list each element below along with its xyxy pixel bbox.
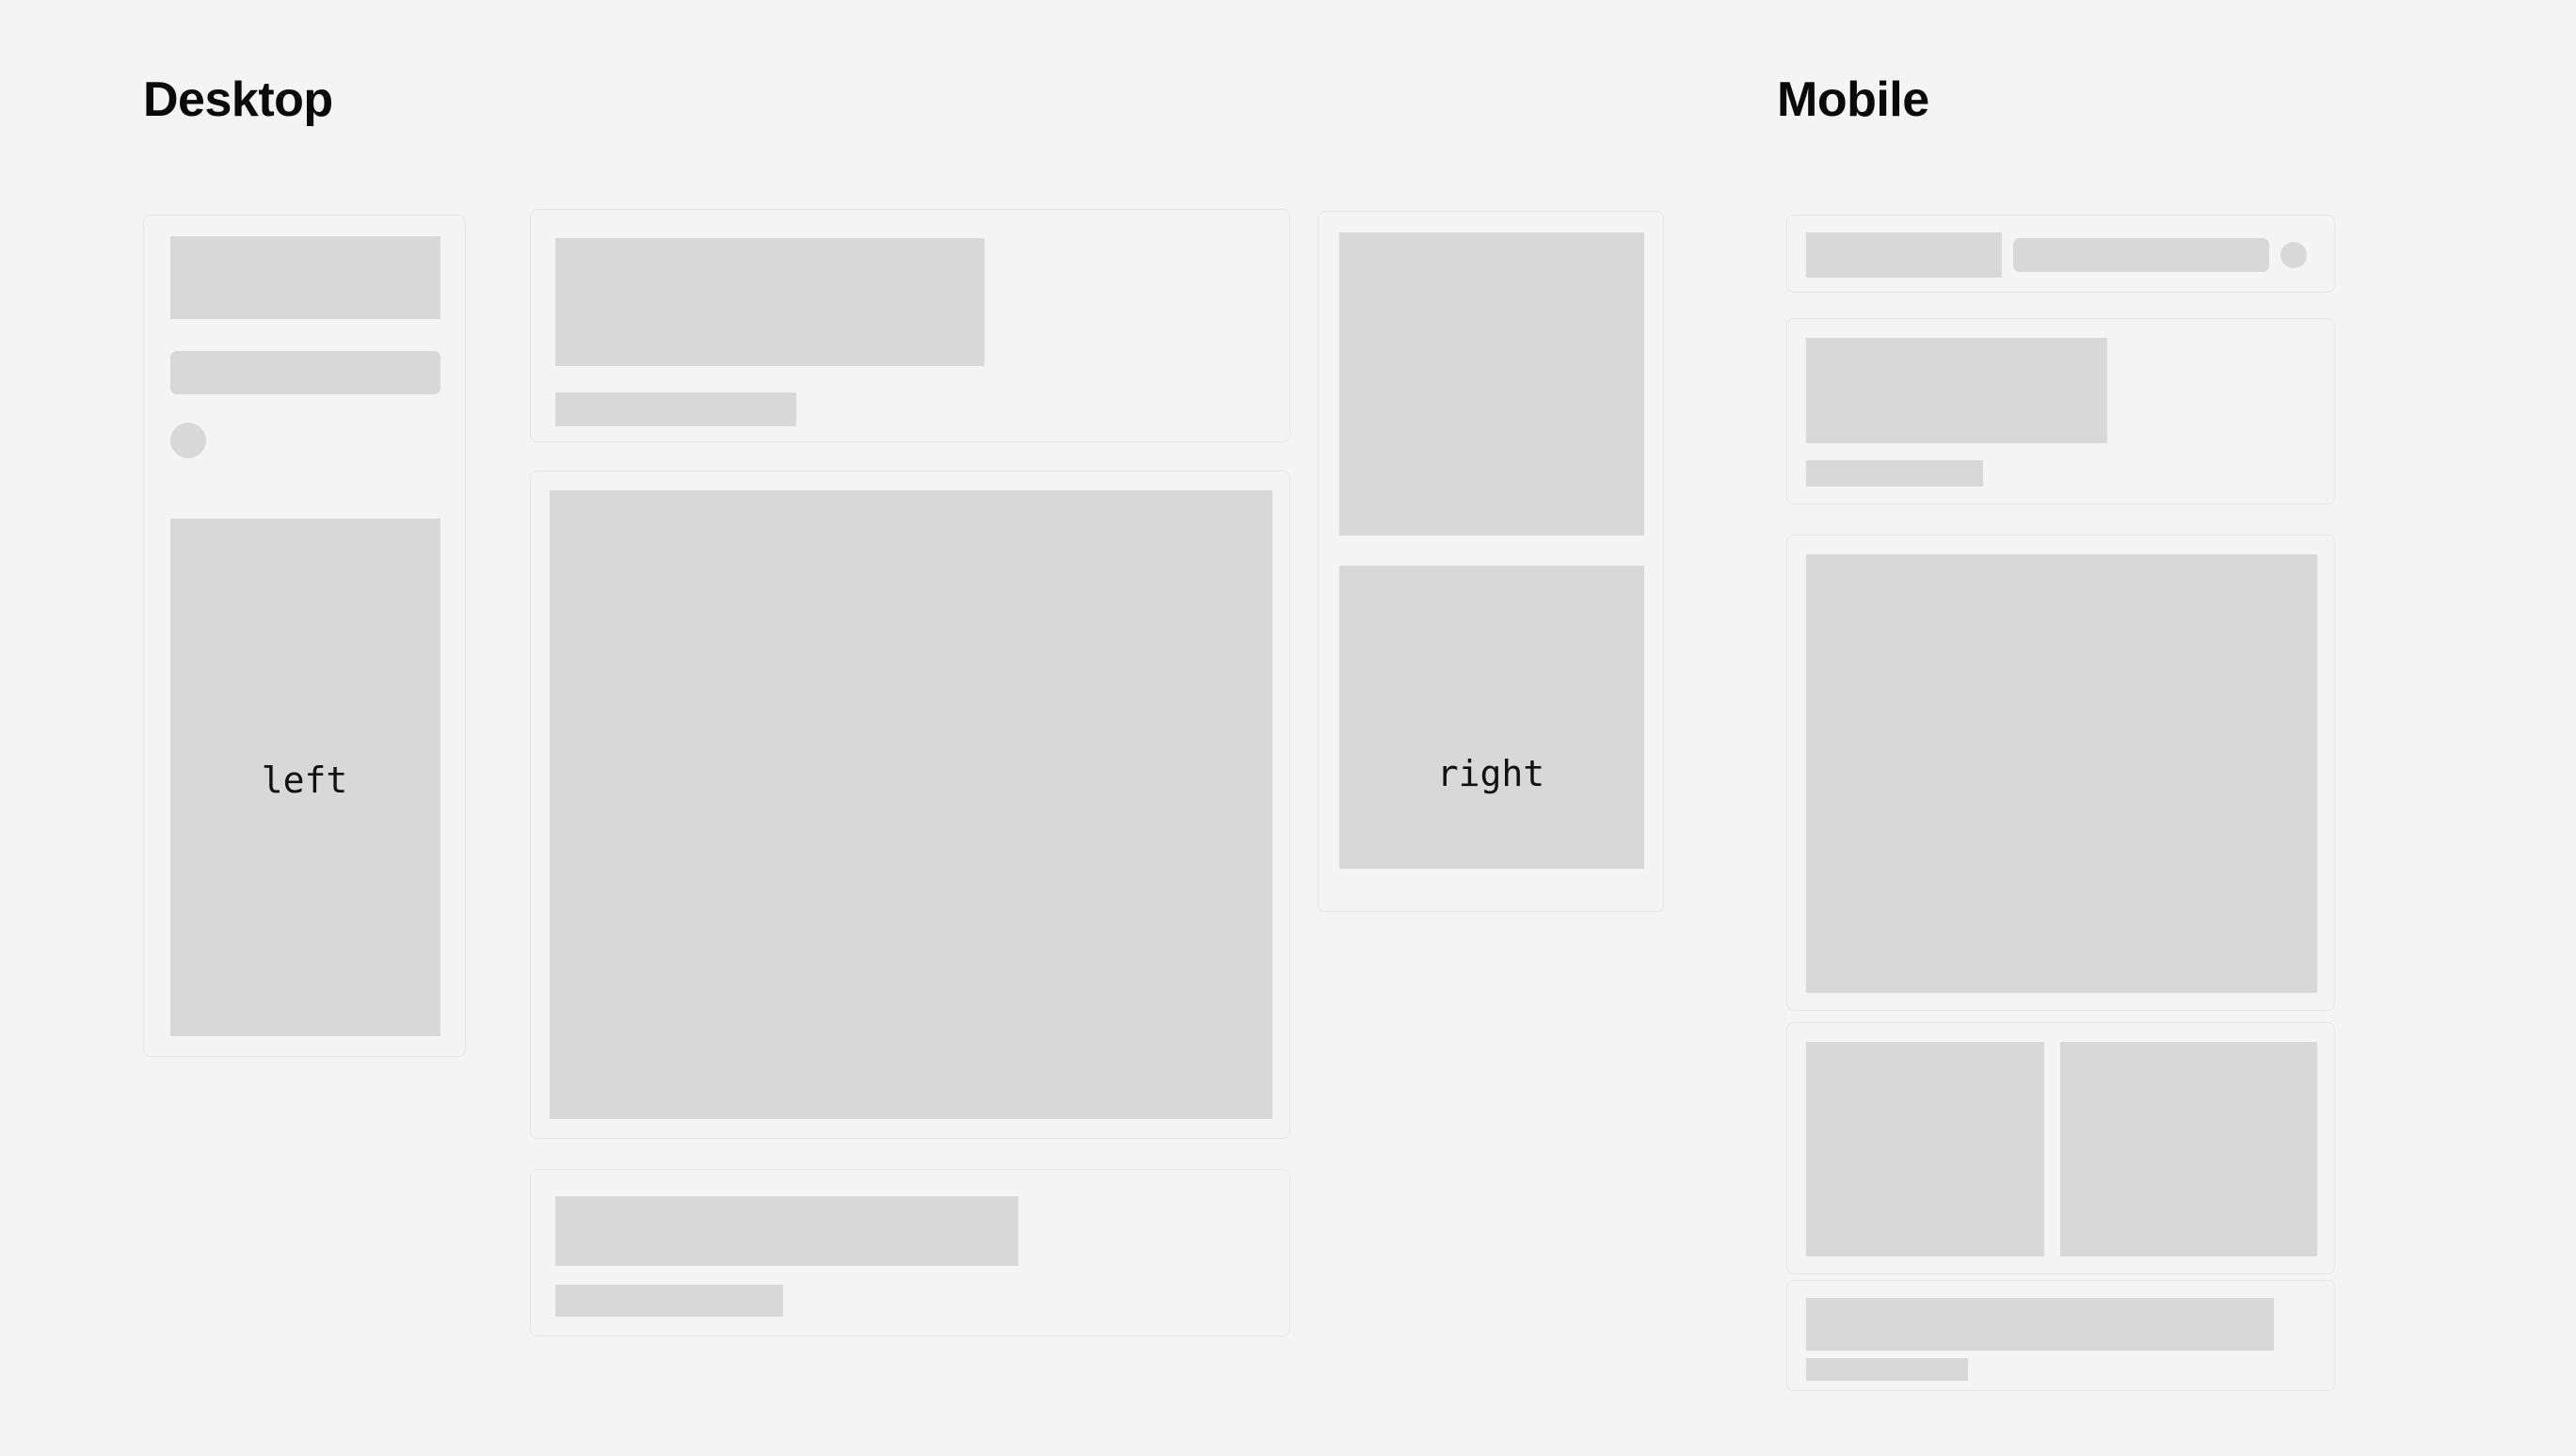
placeholder-block-hero-m [1806,232,2002,278]
placeholder-avatar-dot-m [2280,242,2307,268]
placeholder-block-right-bottom [1339,566,1644,869]
placeholder-block-hero [170,236,440,319]
placeholder-block-header-m [1806,338,2107,443]
desktop-page-body-card[interactable]: pageBody [530,471,1290,1139]
desktop-right-card[interactable]: right [1318,211,1664,912]
mobile-page-body-card[interactable]: pageBody [1786,535,2335,1011]
placeholder-avatar-dot [170,423,206,458]
placeholder-bar-wide-m [2013,238,2269,272]
placeholder-bar-footer-small [555,1285,783,1317]
placeholder-bar-footer-small-m [1806,1358,1968,1381]
wireframe-preview-stage: Desktop left beforeBody pageBody footer … [0,0,2576,1456]
placeholder-block-tall [170,519,440,1036]
placeholder-bar-short-m [1806,460,1983,487]
desktop-footer-card[interactable]: footer [530,1169,1290,1336]
placeholder-block-body [550,490,1272,1119]
placeholder-bar-footer-m [1806,1298,2274,1351]
section-title-mobile: Mobile [1777,75,1929,124]
desktop-left-card[interactable]: left [143,215,466,1057]
section-title-desktop: Desktop [143,75,333,124]
placeholder-bar-wide [170,351,440,394]
desktop-before-body-card[interactable]: beforeBody [530,209,1290,442]
mobile-left-card[interactable]: left [1786,215,2335,293]
placeholder-bar-footer [555,1196,1018,1266]
placeholder-bar-short [555,392,796,426]
mobile-before-body-card[interactable]: beforeBody [1786,318,2335,504]
placeholder-block-header [555,238,984,366]
placeholder-block-body-m [1806,554,2317,993]
mobile-footer-card[interactable]: footer [1786,1280,2335,1391]
placeholder-block-right-right-m [2060,1042,2317,1256]
mobile-right-card[interactable]: right [1786,1022,2335,1274]
placeholder-block-right-left-m [1806,1042,2044,1256]
placeholder-block-right-top [1339,232,1644,536]
